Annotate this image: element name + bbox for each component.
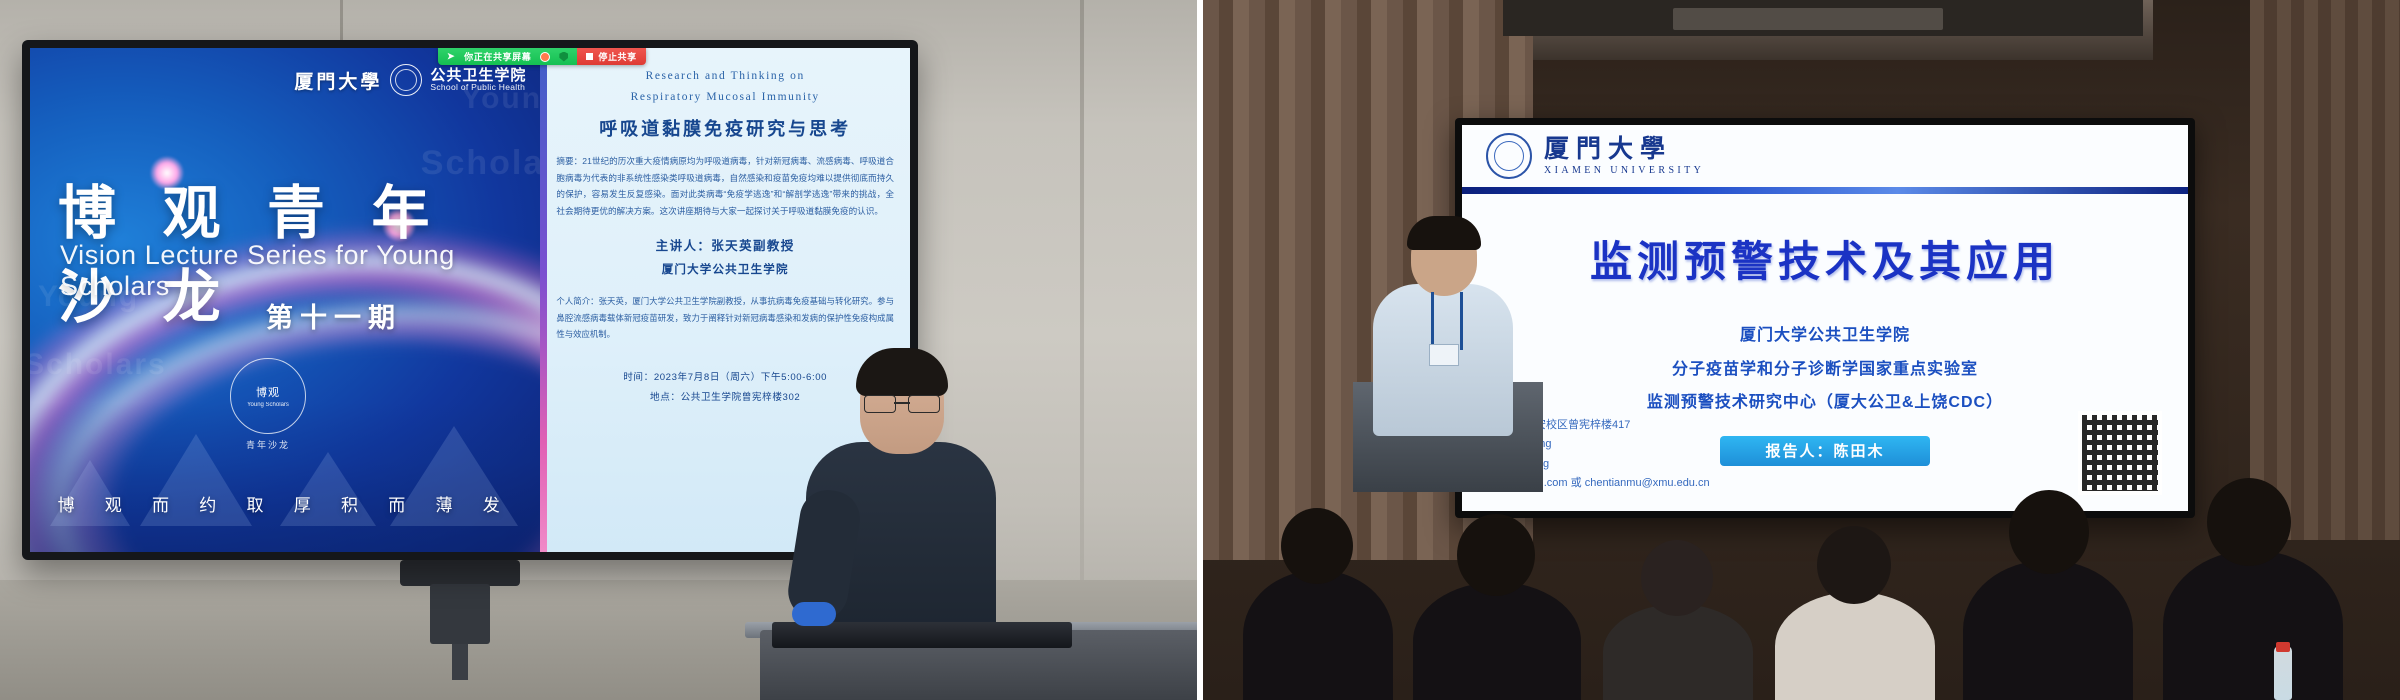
- record-dot-icon[interactable]: [540, 52, 550, 62]
- university-name-cn: 厦門大學: [294, 67, 382, 94]
- header-divider: [1462, 187, 2188, 194]
- round-seal-cn: 博观: [256, 384, 280, 400]
- watermark-scholars-left: Scholars: [30, 348, 167, 382]
- tv-screen: Young Scholars Young Scholars 厦門大學 公共卫生学…: [30, 48, 910, 552]
- stop-sharing-label: 停止共享: [598, 50, 636, 63]
- poster-left-panel: Young Scholars Young Scholars 厦門大學 公共卫生学…: [30, 48, 540, 552]
- name-badge: [1429, 344, 1459, 366]
- right-photo: 厦門大學 XIAMEN UNIVERSITY 监测预警技术及其应用 厦门大学公共…: [1203, 0, 2400, 700]
- slide-title: 监测预警技术及其应用: [1462, 228, 2188, 289]
- audience-head: [1641, 540, 1713, 616]
- wall-mounted-tv: 厦門大學 XIAMEN UNIVERSITY 监测预警技术及其应用 厦门大学公共…: [1455, 118, 2195, 518]
- seated-audience: [1963, 560, 2133, 700]
- ceiling-vent: [1673, 8, 1943, 30]
- brand-name-cn: 厦門大學: [1544, 136, 1704, 164]
- window-curtain-right: [2250, 0, 2400, 540]
- wall-mounted-tv: Young Scholars Young Scholars 厦門大學 公共卫生学…: [22, 40, 918, 560]
- audience-head: [1817, 526, 1891, 604]
- bottle-cap: [2276, 642, 2290, 652]
- screen-share-message: 你正在共享屏幕: [464, 50, 531, 63]
- affiliation-line-2: 分子疫苗学和分子诊断学国家重点实验室: [1462, 353, 2188, 387]
- talk-host: 主讲人：张天英副教授: [556, 235, 894, 254]
- audience-head: [1281, 508, 1353, 584]
- tv-stand-base: [430, 584, 490, 644]
- tv-screen: 厦門大學 XIAMEN UNIVERSITY 监测预警技术及其应用 厦门大学公共…: [1462, 125, 2188, 511]
- brand-name-en: XIAMEN UNIVERSITY: [1544, 165, 1704, 176]
- seal-inner-ring: [395, 69, 417, 91]
- xiamen-university-seal-icon: [390, 64, 422, 96]
- eyeglasses-icon: [864, 395, 940, 412]
- slide-header: 厦門大學 XIAMEN UNIVERSITY: [1462, 125, 2188, 187]
- presenter-badge: 报告人：陈田木: [1720, 436, 1930, 466]
- qr-pattern: [2082, 415, 2158, 491]
- poster-round-seal: 博观 Young Scholars: [230, 358, 306, 434]
- audience-head: [1457, 514, 1535, 596]
- talk-host-affiliation: 厦门大学公共卫生学院: [556, 261, 894, 277]
- seated-audience: [1413, 582, 1581, 700]
- stop-sharing-button[interactable]: 停止共享: [577, 48, 645, 65]
- audience-head: [2009, 490, 2089, 574]
- poster-title-en: Vision Lecture Series for Young Scholars: [60, 240, 540, 302]
- slide-affiliations: 厦门大学公共卫生学院 分子疫苗学和分子诊断学国家重点实验室 监测预警技术研究中心…: [1462, 319, 2188, 420]
- round-seal-en: Young Scholars: [247, 402, 289, 408]
- school-block: 公共卫生学院 School of Public Health: [430, 68, 526, 93]
- seated-audience: [2163, 550, 2343, 700]
- poster-slogan: 博 观 而 约 取 厚 积 而 薄 发: [30, 491, 540, 516]
- affiliation-line-1: 厦门大学公共卫生学院: [1462, 319, 2188, 353]
- shield-icon[interactable]: [559, 52, 568, 62]
- water-bottle: [2274, 646, 2292, 700]
- standing-speaker: [800, 340, 1000, 640]
- qr-code-icon: [2078, 411, 2162, 495]
- poster-brand-row: 厦門大學 公共卫生学院 School of Public Health: [294, 64, 526, 96]
- speaker-bio: 个人简介：张天英，厦门大学公共卫生学院副教授，从事抗病毒免疫基础与转化研究。参与…: [556, 293, 894, 342]
- talk-abstract: 摘要：21世纪的历次重大疫情病原均为呼吸道病毒，针对新冠病毒、流感病毒、呼吸道合…: [556, 153, 894, 219]
- standing-presenter: [1373, 196, 1513, 436]
- speaker-hair: [856, 348, 948, 396]
- xiamen-university-seal-icon: [1486, 133, 1532, 179]
- seated-audience: [1775, 592, 1935, 700]
- left-photo: Young Scholars Young Scholars 厦門大學 公共卫生学…: [0, 0, 1197, 700]
- cursor-icon: ➤: [447, 51, 455, 62]
- talk-title-en-line1: Research and Thinking on: [556, 66, 894, 87]
- round-seal-sub: 青年沙龙: [226, 438, 310, 451]
- presenter-hair: [1407, 216, 1481, 250]
- panel-edge-gradient: [540, 48, 547, 552]
- school-name-en: School of Public Health: [430, 83, 526, 92]
- seated-audience: [1243, 570, 1393, 700]
- lanyard: [1431, 292, 1463, 350]
- talk-title-en-line2: Respiratory Mucosal Immunity: [556, 87, 894, 108]
- seminar-poster-slide: Young Scholars Young Scholars 厦門大學 公共卫生学…: [30, 48, 910, 552]
- tv-stand-top: [400, 560, 520, 586]
- screen-share-toast[interactable]: ➤ 你正在共享屏幕 停止共享: [438, 48, 646, 65]
- mouse: [792, 602, 836, 626]
- school-name-cn: 公共卫生学院: [430, 68, 526, 84]
- audience-head: [2207, 478, 2291, 566]
- talk-title-cn: 呼吸道黏膜免疫研究与思考: [556, 115, 894, 141]
- poster-issue-number: 第十一期: [266, 296, 402, 335]
- screen-share-status: ➤ 你正在共享屏幕: [438, 48, 577, 65]
- brand-text: 厦門大學 XIAMEN UNIVERSITY: [1544, 136, 1704, 177]
- seated-audience: [1603, 604, 1753, 700]
- composite-image: Young Scholars Young Scholars 厦門大學 公共卫生学…: [0, 0, 2400, 700]
- stop-square-icon: [586, 53, 593, 60]
